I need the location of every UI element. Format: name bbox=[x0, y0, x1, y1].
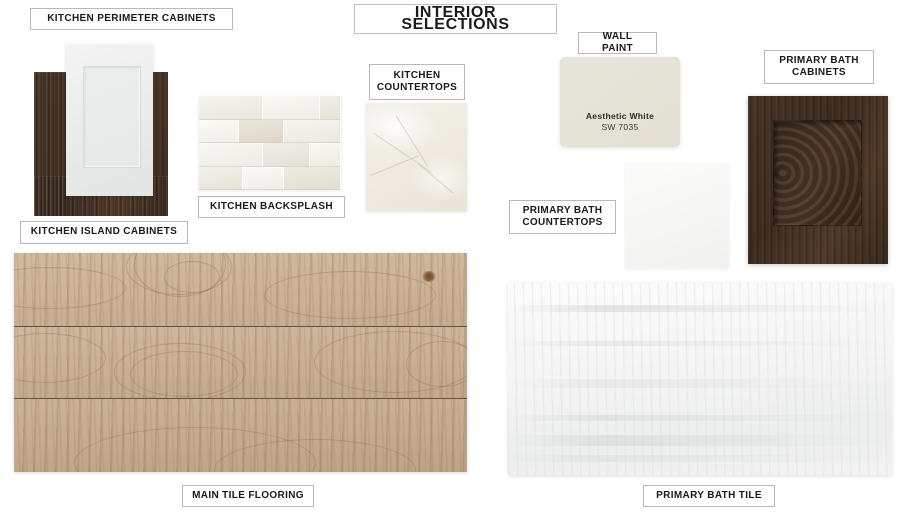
flooring-plank bbox=[14, 253, 467, 326]
backsplash-tile bbox=[199, 96, 263, 120]
plank-grain-arc bbox=[264, 271, 436, 319]
tile-streak bbox=[508, 305, 892, 312]
label-primary-bath-cabinets: PRIMARY BATH CABINETS bbox=[764, 50, 874, 84]
sample-primary-bath-tile bbox=[508, 283, 892, 475]
tile-streak bbox=[508, 455, 892, 462]
label-kitchen-countertops: KITCHEN COUNTERTOPS bbox=[369, 64, 465, 100]
backsplash-tile bbox=[199, 167, 243, 190]
page-title: INTERIOR SELECTIONS bbox=[354, 4, 557, 34]
label-kitchen-backsplash: KITCHEN BACKSPLASH bbox=[198, 196, 345, 218]
tile-streak bbox=[508, 435, 892, 446]
bath-door-center-panel bbox=[773, 120, 862, 226]
label-primary-bath-countertops: PRIMARY BATH COUNTERTOPS bbox=[509, 200, 616, 234]
backsplash-row bbox=[199, 167, 341, 190]
plank-knot bbox=[422, 271, 436, 282]
backsplash-tile bbox=[284, 120, 341, 143]
plank-grain-arc bbox=[164, 261, 220, 293]
sample-kitchen-countertop-slab bbox=[366, 103, 467, 211]
shaker-inner-panel bbox=[83, 66, 141, 168]
backsplash-row bbox=[199, 96, 341, 120]
label-wall-paint: WALL PAINT bbox=[578, 32, 657, 54]
interior-selections-board: INTERIOR SELECTIONS KITCHEN PERIMETER CA… bbox=[0, 0, 900, 515]
sample-primary-bath-countertop-slab bbox=[625, 163, 729, 268]
paint-color-name: Aesthetic White bbox=[586, 111, 654, 122]
backsplash-tile bbox=[284, 167, 341, 190]
sample-kitchen-perimeter-cabinet-door bbox=[66, 44, 153, 196]
label-kitchen-perimeter-cabinets: KITCHEN PERIMETER CABINETS bbox=[30, 8, 233, 30]
plank-grain-arc bbox=[130, 351, 238, 397]
countertop-vein bbox=[370, 156, 419, 176]
sample-primary-bath-cabinet-door bbox=[748, 96, 888, 264]
backsplash-tile bbox=[239, 120, 284, 143]
backsplash-row bbox=[199, 120, 341, 143]
backsplash-tile bbox=[243, 167, 284, 190]
backsplash-row bbox=[199, 143, 341, 167]
countertop-vein bbox=[418, 163, 454, 193]
sample-kitchen-backsplash-tile bbox=[199, 96, 341, 190]
sample-main-tile-flooring bbox=[14, 253, 467, 472]
backsplash-tile bbox=[199, 120, 239, 143]
backsplash-tile bbox=[320, 96, 341, 120]
label-kitchen-island-cabinets: KITCHEN ISLAND CABINETS bbox=[20, 221, 188, 244]
island-door-left-stile bbox=[34, 72, 66, 216]
tile-streak bbox=[508, 415, 892, 421]
sample-wall-paint-swatch: Aesthetic White SW 7035 bbox=[560, 57, 680, 147]
label-primary-bath-tile: PRIMARY BATH TILE bbox=[643, 485, 775, 507]
backsplash-tile bbox=[263, 96, 320, 120]
backsplash-tile bbox=[263, 143, 310, 167]
tile-streak bbox=[508, 341, 892, 346]
backsplash-tile bbox=[310, 143, 341, 167]
backsplash-tile bbox=[199, 143, 263, 167]
flooring-plank bbox=[14, 327, 467, 398]
label-main-tile-flooring: MAIN TILE FLOORING bbox=[182, 485, 314, 507]
paint-color-code: SW 7035 bbox=[601, 122, 638, 133]
flooring-plank bbox=[14, 399, 467, 472]
tile-streak bbox=[508, 379, 892, 388]
